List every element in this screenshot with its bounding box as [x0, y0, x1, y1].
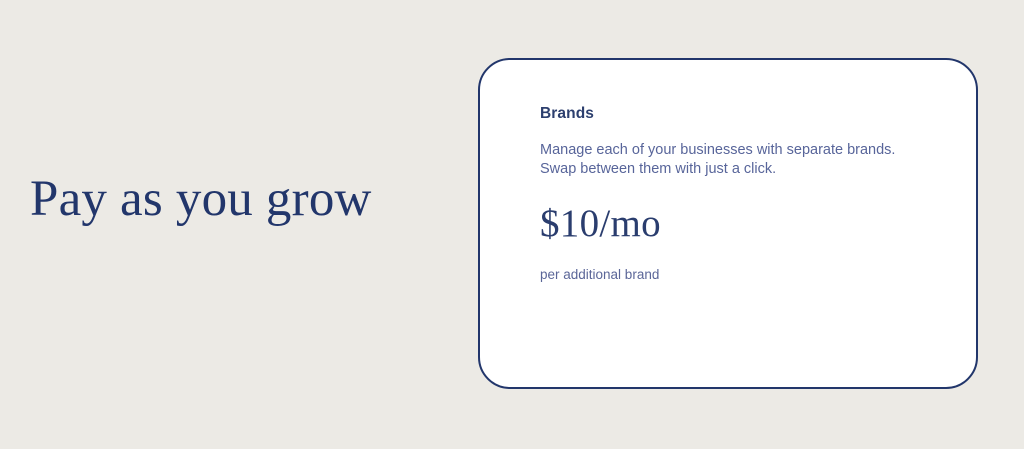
- page-title: Pay as you grow: [30, 170, 450, 228]
- pricing-card-price: $10/mo: [540, 201, 944, 247]
- pricing-card: Brands Manage each of your businesses wi…: [478, 58, 978, 389]
- pricing-card-content: Brands Manage each of your businesses wi…: [540, 104, 944, 284]
- pricing-card-price-note: per additional brand: [540, 266, 944, 284]
- pricing-card-description: Manage each of your businesses with sepa…: [540, 141, 898, 179]
- pricing-card-title: Brands: [540, 104, 944, 124]
- page-root: Pay as you grow Brands Manage each of yo…: [0, 0, 1024, 449]
